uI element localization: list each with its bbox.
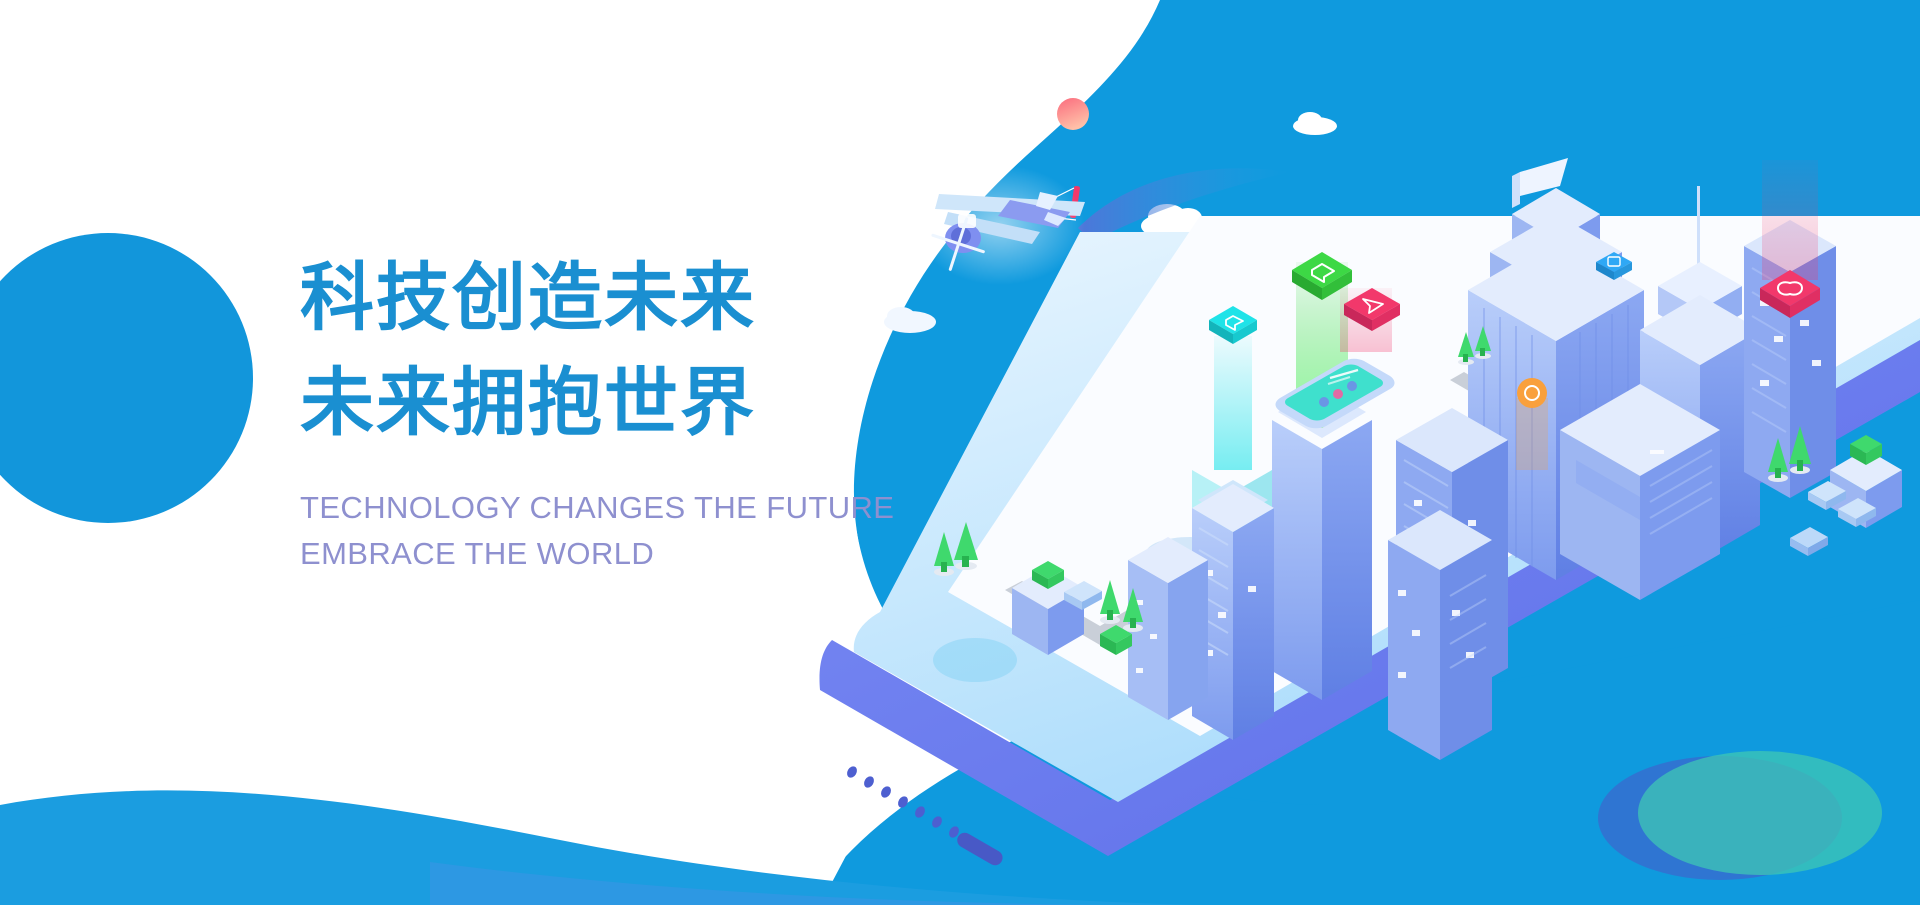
subtitle-line-2: EMBRACE THE WORLD [300, 531, 940, 577]
marker-orange[interactable] [1517, 378, 1547, 408]
building-right-pair [1388, 510, 1492, 760]
decor-soft-ellipse [933, 638, 1017, 682]
hero-text-block: 科技创造未来 未来拥抱世界 TECHNOLOGY CHANGES THE FUT… [300, 245, 940, 577]
building-stepped-wide [1560, 384, 1720, 600]
headline-line-2: 未来拥抱世界 [300, 350, 940, 455]
hero-subtitle: TECHNOLOGY CHANGES THE FUTURE EMBRACE TH… [300, 485, 940, 577]
background-shapes [0, 0, 1920, 905]
decor-teal-blob [1638, 751, 1882, 875]
banner-root: 科技创造未来 未来拥抱世界 TECHNOLOGY CHANGES THE FUT… [0, 0, 1920, 905]
background-layer [0, 0, 1920, 905]
building-orange-marker [1516, 378, 1548, 470]
sun-dot-left [1057, 98, 1089, 130]
page-title: 科技创造未来 未来拥抱世界 [300, 245, 940, 455]
building-pink-send-tower [1340, 288, 1400, 352]
airplane [915, 165, 1085, 285]
subtitle-line-1: TECHNOLOGY CHANGES THE FUTURE [300, 485, 940, 531]
headline-line-1: 科技创造未来 [300, 245, 940, 350]
